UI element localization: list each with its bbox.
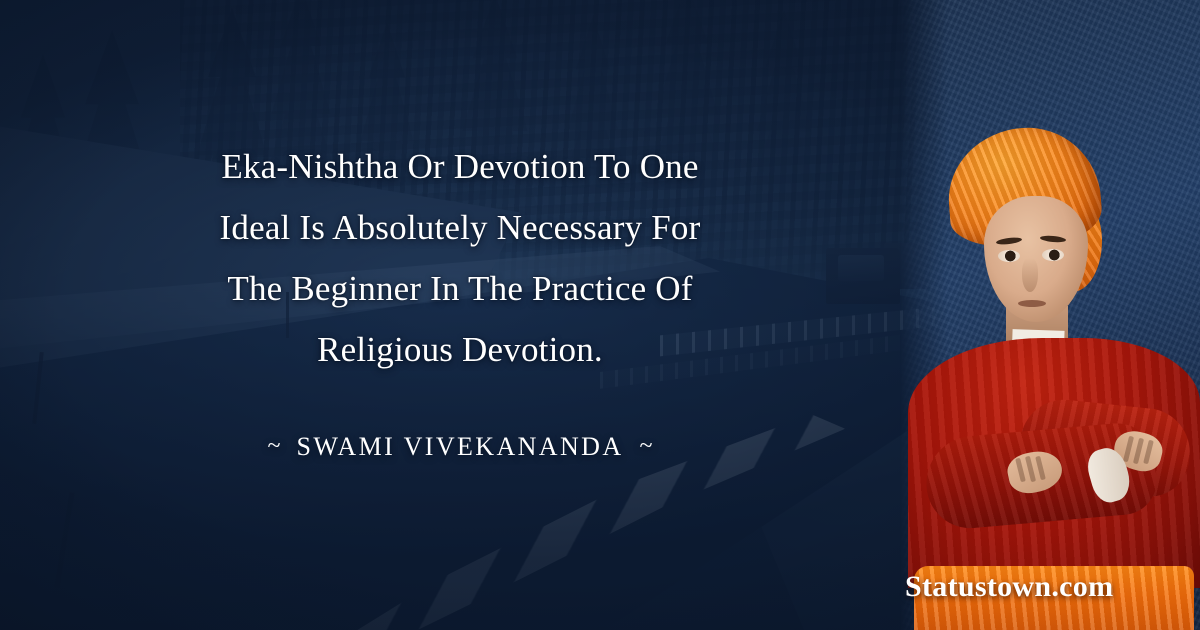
portrait-swami-vivekananda: [900, 0, 1200, 630]
ornament-left: ~: [252, 433, 297, 460]
site-watermark: Statustown.com: [905, 570, 1113, 604]
eye-right: [1042, 249, 1064, 261]
nose: [1022, 258, 1038, 292]
quote-line-2: Ideal Is Absolutely Necessary For: [60, 197, 860, 258]
quote-line-4: Religious Devotion.: [60, 319, 860, 380]
quote-line-1: Eka-Nishtha Or Devotion To One: [60, 136, 860, 197]
quote-text-block: Eka-Nishtha Or Devotion To One Ideal Is …: [60, 136, 860, 380]
quote-poster: Eka-Nishtha Or Devotion To One Ideal Is …: [0, 0, 1200, 630]
author-attribution: ~SWAMI VIVEKANANDA~: [60, 432, 860, 462]
eye-left: [998, 250, 1020, 262]
ornament-right: ~: [624, 433, 669, 460]
quote-line-3: The Beginner In The Practice Of: [60, 258, 860, 319]
author-name: SWAMI VIVEKANANDA: [296, 432, 623, 461]
mouth: [1018, 300, 1046, 307]
